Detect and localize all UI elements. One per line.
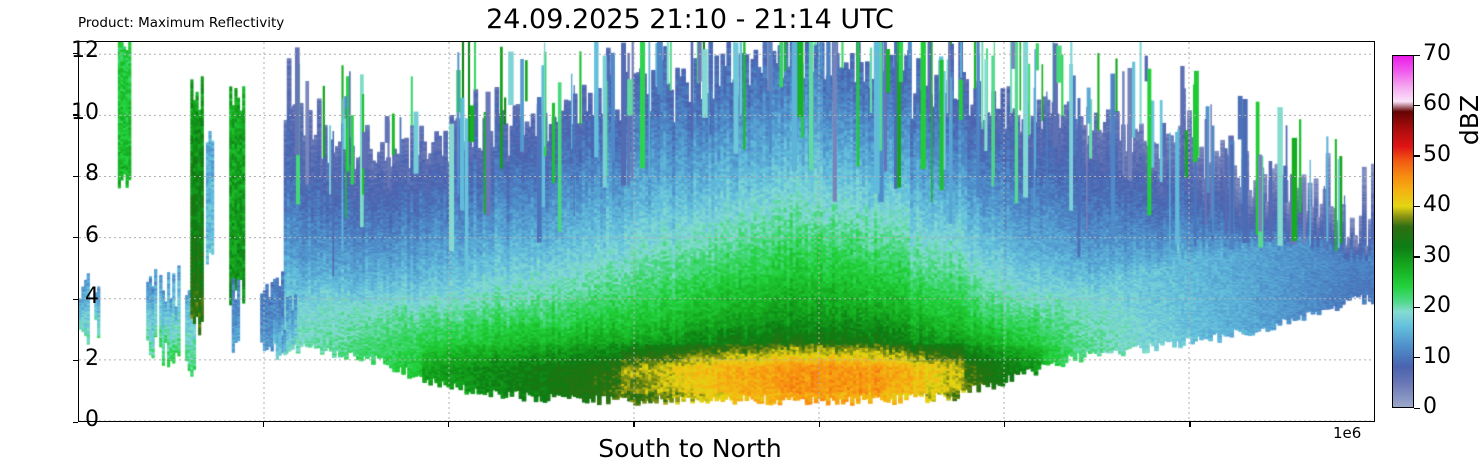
- y-axis-tick-label: 8: [85, 163, 99, 185]
- y-axis-tick-label: 12: [71, 40, 99, 62]
- x-axis-tick-mark: [633, 422, 634, 427]
- radar-cross-section-figure: Product: Maximum Reflectivity 24.09.2025…: [0, 0, 1482, 470]
- y-axis-tick-mark: [73, 360, 78, 361]
- y-axis-tick-label: 0: [85, 409, 99, 431]
- x-axis-exponent-label: 1e6: [1333, 424, 1361, 442]
- y-axis-tick-mark: [73, 299, 78, 300]
- colorbar-gradient: [1392, 55, 1414, 408]
- colorbar-tick-label: 20: [1423, 295, 1451, 317]
- plot-area: [78, 41, 1375, 422]
- page-title: 24.09.2025 21:10 - 21:14 UTC: [0, 4, 1380, 35]
- colorbar-tick-mark: [1414, 105, 1420, 106]
- y-axis-tick-mark: [73, 422, 78, 423]
- colorbar-tick-label: 30: [1423, 245, 1451, 267]
- y-axis-tick-mark: [73, 176, 78, 177]
- colorbar-tick-label: 70: [1423, 43, 1451, 65]
- colorbar-tick-label: 60: [1423, 93, 1451, 115]
- x-axis-label: South to North: [0, 434, 1380, 463]
- colorbar: [1392, 55, 1414, 408]
- colorbar-tick-mark: [1414, 206, 1420, 207]
- y-axis-tick-label: 2: [85, 348, 99, 370]
- y-axis-tick-label: 4: [85, 286, 99, 308]
- colorbar-tick-label: 40: [1423, 194, 1451, 216]
- colorbar-tick-mark: [1414, 256, 1420, 257]
- colorbar-tick-mark: [1414, 307, 1420, 308]
- x-axis-tick-mark: [1189, 422, 1190, 427]
- y-axis-tick-label: 6: [85, 225, 99, 247]
- x-axis-tick-mark: [1004, 422, 1005, 427]
- x-axis-tick-mark: [263, 422, 264, 427]
- x-axis-tick-mark: [819, 422, 820, 427]
- colorbar-label: dBZ: [1455, 60, 1482, 180]
- colorbar-tick-mark: [1414, 155, 1420, 156]
- reflectivity-heatmap-canvas: [79, 42, 1374, 421]
- colorbar-tick-label: 50: [1423, 144, 1451, 166]
- colorbar-tick-mark: [1414, 55, 1420, 56]
- colorbar-tick-mark: [1414, 357, 1420, 358]
- y-axis-tick-label: 10: [71, 102, 99, 124]
- colorbar-tick-mark: [1414, 408, 1420, 409]
- x-axis-tick-mark: [448, 422, 449, 427]
- y-axis-tick-mark: [73, 237, 78, 238]
- colorbar-tick-label: 10: [1423, 346, 1451, 368]
- colorbar-tick-label: 0: [1423, 396, 1437, 418]
